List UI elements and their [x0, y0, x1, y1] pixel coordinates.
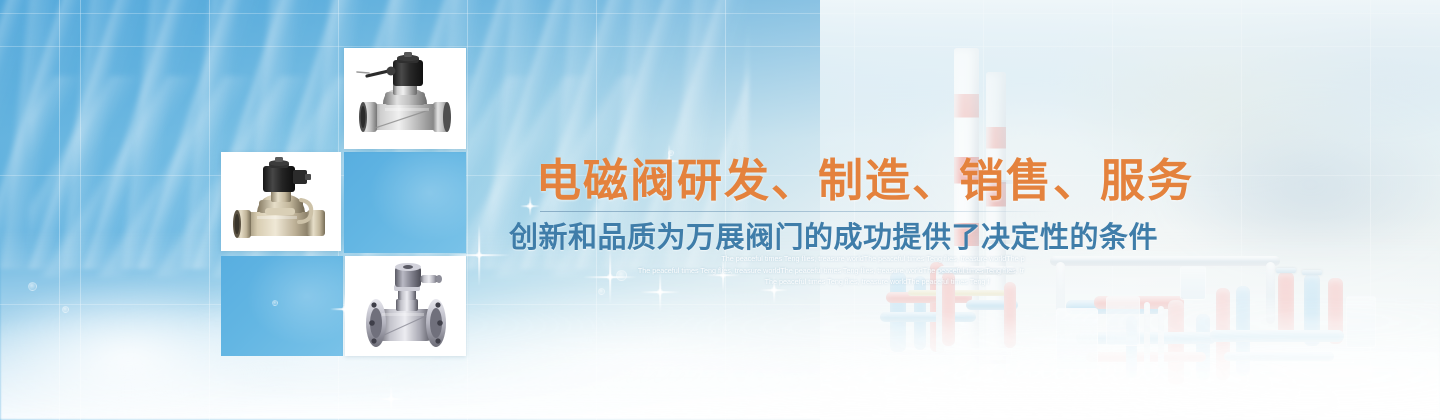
microcopy-line-3: The peaceful times Teng flies, treasure … — [664, 276, 1090, 288]
hero-banner: 电磁阀研发、制造、销售、服务 创新和品质为万展阀门的成功提供了决定性的条件 Th… — [0, 0, 1440, 420]
microcopy-line-2: The peaceful times Teng flies, treasure … — [572, 265, 1090, 277]
microcopy-line-1: The peaceful times Teng flies, treasure … — [656, 253, 1090, 265]
banner-headline: 电磁阀研发、制造、销售、服务 — [536, 155, 1194, 207]
banner-microcopy: The peaceful times Teng flies, treasure … — [620, 253, 1090, 288]
banner-subheadline: 创新和品质为万展阀门的成功提供了决定性的条件 — [509, 220, 1158, 256]
headline-divider — [540, 211, 1056, 212]
banner-copy: 电磁阀研发、制造、销售、服务 创新和品质为万展阀门的成功提供了决定性的条件 Th… — [0, 0, 1440, 420]
